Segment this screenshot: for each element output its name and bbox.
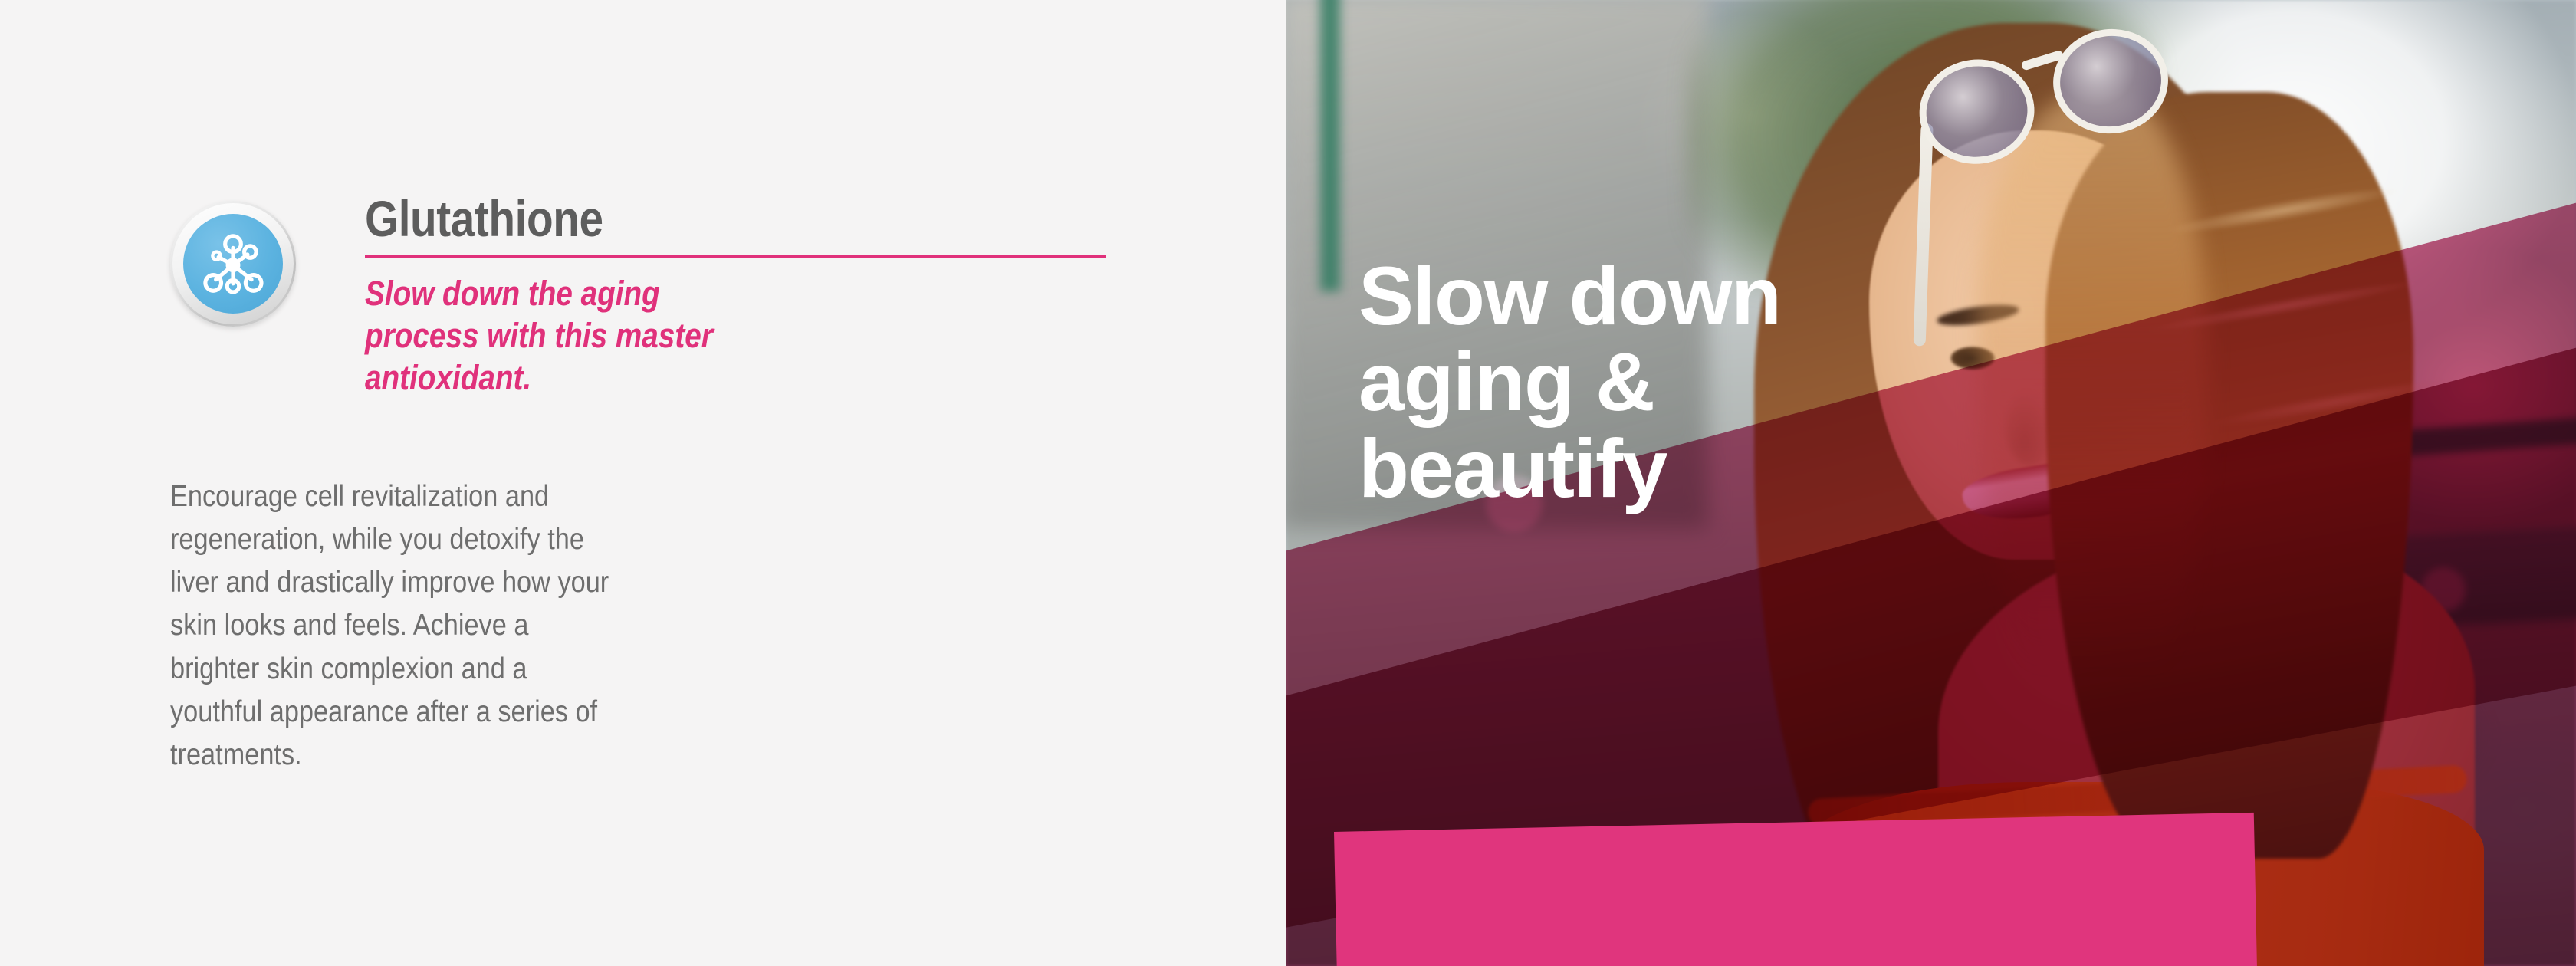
page-title: Glutathione [365, 193, 1055, 245]
info-panel: Glutathione Slow down the aging process … [0, 0, 1286, 966]
molecule-icon-badge [170, 201, 296, 327]
title-divider [365, 255, 1106, 258]
title-row: Glutathione Slow down the aging process … [170, 193, 1167, 399]
body-description: Encourage cell revitalization and regene… [170, 475, 616, 777]
tagline: Slow down the aging process with this ma… [365, 273, 734, 399]
title-column: Glutathione Slow down the aging process … [365, 193, 1167, 399]
product-info-block: Glutathione Slow down the aging process … [170, 193, 1167, 399]
hero-photo-panel: Slow down aging & beautify [1286, 0, 2576, 966]
sunglasses-lens-left [1914, 53, 2040, 170]
hero-headline: Slow down aging & beautify [1359, 253, 1941, 511]
molecule-icon [183, 214, 283, 314]
treatment-banner: Glutathione Slow down the aging process … [0, 0, 2576, 966]
sunglasses-lens-right [2047, 22, 2173, 140]
pink-accent-panel [1334, 813, 2258, 966]
background-pole [1320, 0, 1340, 291]
